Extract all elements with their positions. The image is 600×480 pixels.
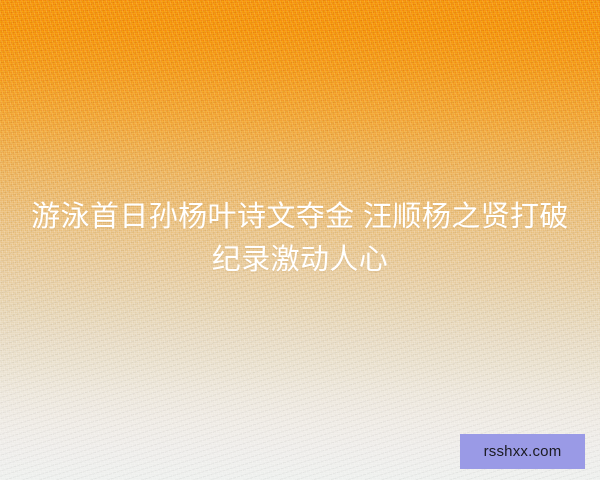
watermark-badge: rsshxx.com [460,434,585,469]
article-banner: 游泳首日孙杨叶诗文夺金 汪顺杨之贤打破纪录激动人心 rsshxx.com [0,0,600,480]
headline-title: 游泳首日孙杨叶诗文夺金 汪顺杨之贤打破纪录激动人心 [0,196,600,282]
watermark-label: rsshxx.com [484,443,562,460]
